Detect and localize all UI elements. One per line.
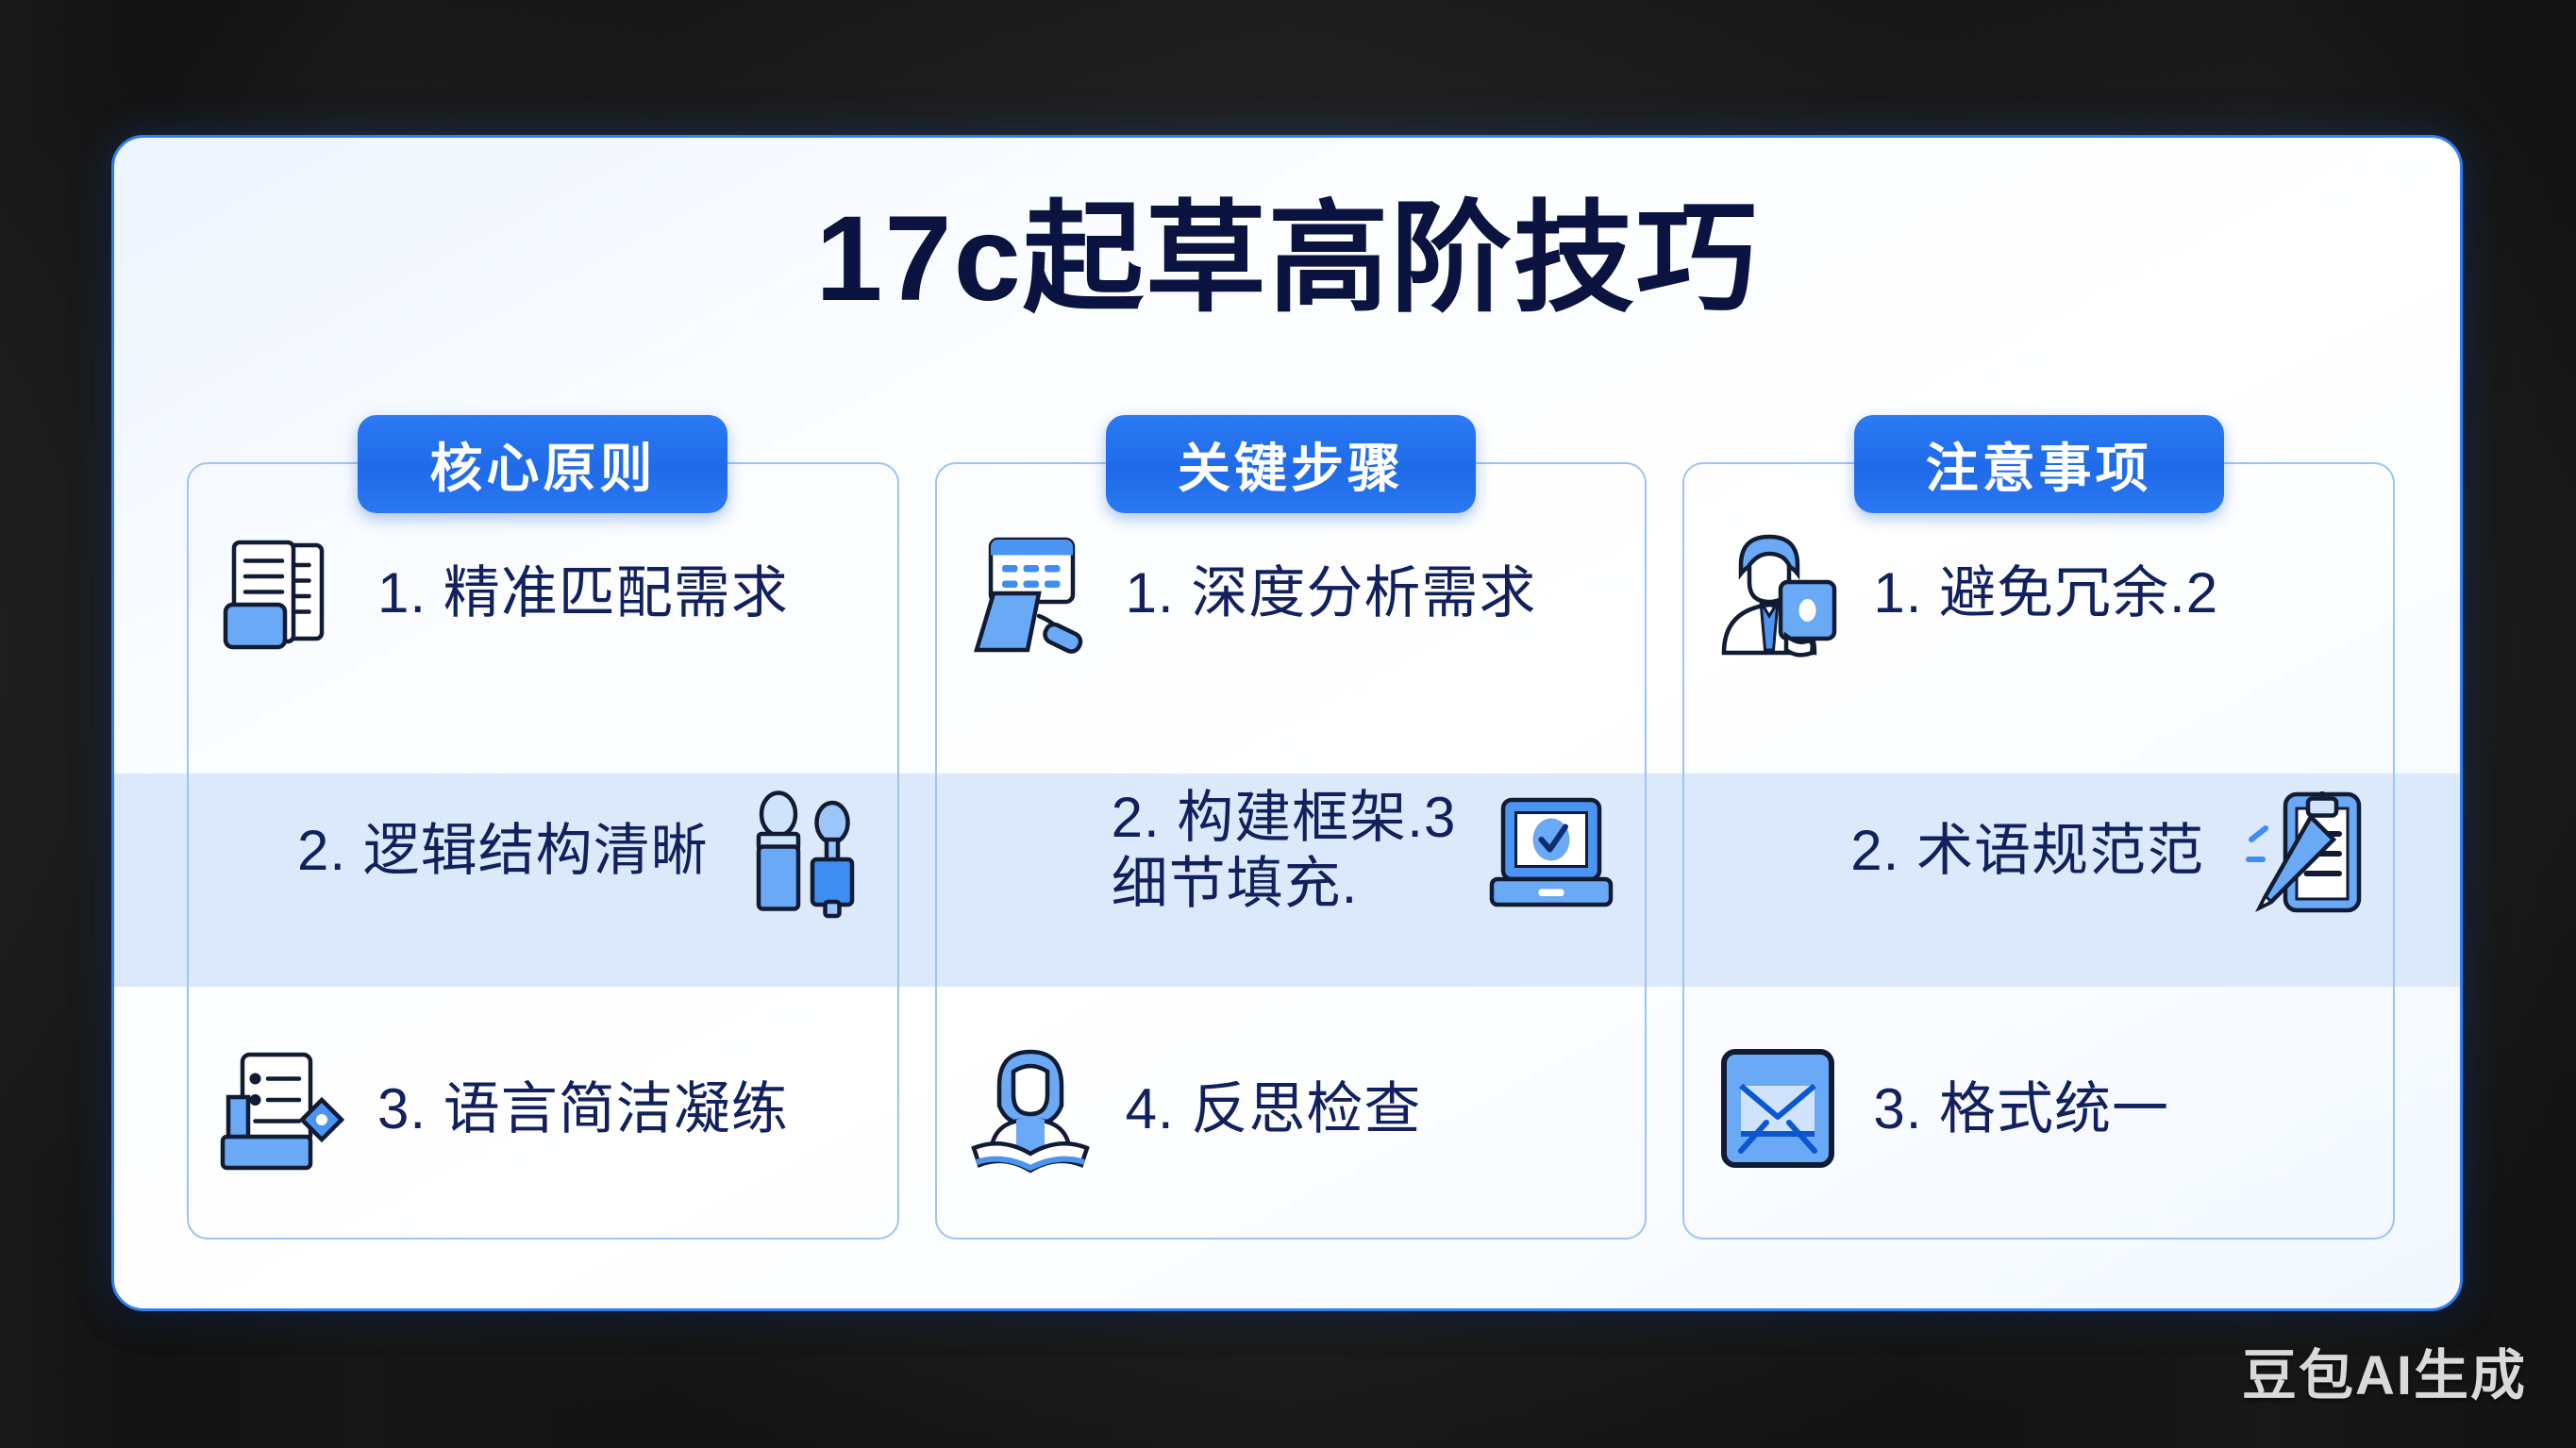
document-edit-icon: [211, 1038, 353, 1179]
list-item-label: 2. 构建框架.3 细节填充.: [1112, 785, 1457, 916]
laptop-hand-icon: [960, 523, 1101, 664]
list-item: 1. 深度分析需求: [937, 464, 1646, 722]
laptop-check-icon: [1480, 780, 1622, 922]
list-item-label: 1. 避免冗余.2: [1873, 560, 2218, 626]
list-item-label: 3. 格式统一: [1873, 1076, 2169, 1142]
list-item: 2. 构建框架.3 细节填充.: [937, 722, 1646, 979]
screenshot-stage: 17c起草高阶技巧 核心原则: [0, 0, 2576, 1448]
envelope-icon: [1707, 1038, 1848, 1179]
columns-container: 核心原则: [187, 462, 2395, 1240]
businessman-tablet-icon: [1707, 523, 1848, 664]
list-item: 1. 避免冗余.2: [1684, 464, 2393, 722]
clipboard-pencil-icon: [2229, 780, 2370, 922]
people-chart-icon: [733, 780, 875, 922]
list-item: 3. 格式统一: [1684, 980, 2393, 1238]
documents-icon: [211, 523, 353, 664]
column-core-principles: 核心原则: [187, 462, 899, 1240]
column-key-steps: 关键步骤: [935, 462, 1648, 1240]
infographic-card: 17c起草高阶技巧 核心原则: [111, 135, 2463, 1311]
watermark-label: 豆包AI生成: [2242, 1331, 2527, 1410]
list-item-label: 3. 语言简洁凝练: [377, 1076, 789, 1142]
list-item: 1. 精准匹配需求: [189, 464, 897, 722]
page-title: 17c起草高阶技巧: [114, 194, 2460, 325]
list-item-label: 2. 术语规范范: [1850, 818, 2204, 884]
list-item-label: 2. 逻辑结构清晰: [297, 818, 709, 884]
list-item-label: 4. 反思检查: [1126, 1076, 1422, 1142]
column-cautions: 注意事项 1. 避免冗余.2: [1682, 462, 2395, 1240]
list-item: 3. 语言简洁凝练: [189, 980, 897, 1238]
list-item: 2. 逻辑结构清晰: [189, 722, 897, 979]
list-item-label: 1. 精准匹配需求: [377, 560, 789, 626]
list-item: 4. 反思检查: [937, 980, 1646, 1238]
person-reading-icon: [960, 1038, 1101, 1179]
list-item-label: 1. 深度分析需求: [1126, 560, 1537, 626]
list-item: 2. 术语规范范: [1684, 722, 2393, 979]
